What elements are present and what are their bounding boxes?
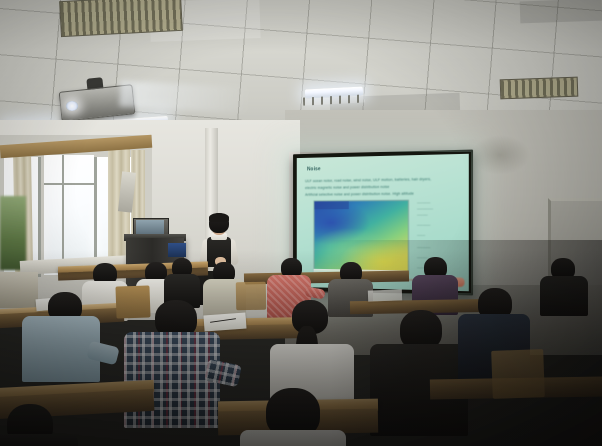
student-white-tee-center-torso [240,430,346,446]
window-mullion-horizontal [44,183,94,185]
slide-bullet-3: Artificial selective noise and power dis… [305,192,414,197]
side-cabinet [0,272,38,308]
slide-heatmap-header [314,201,348,209]
slide-bullet-1: ULF ocean noise, road noise, wind noise,… [305,177,431,183]
podium-equipment [168,243,186,257]
student-corner-right-torso [540,276,588,316]
projector-lens-icon [66,101,78,111]
classroom-photo: Noise ULF ocean noise, road noise, wind … [0,0,602,446]
wall-stain [470,135,530,175]
ceiling-vent-left [59,0,183,37]
presenter-hair-front [209,213,229,222]
student-corner-left-torso [0,434,78,446]
chair-row2-center [236,282,266,311]
paper-sheet-3 [368,289,402,301]
slide-title: Noise [307,166,321,172]
ceiling-tile-shadow-right [520,0,602,23]
slide-heatmap-figure [314,200,409,275]
chair-row3-right [491,349,545,399]
window-mullion-right [94,157,97,271]
ceiling-vent-right-upper [500,77,579,100]
chair-row2-left [115,285,150,318]
outdoor-foliage [0,196,26,270]
slide-bullet-2: electric magnetic noise and power distri… [305,185,389,190]
